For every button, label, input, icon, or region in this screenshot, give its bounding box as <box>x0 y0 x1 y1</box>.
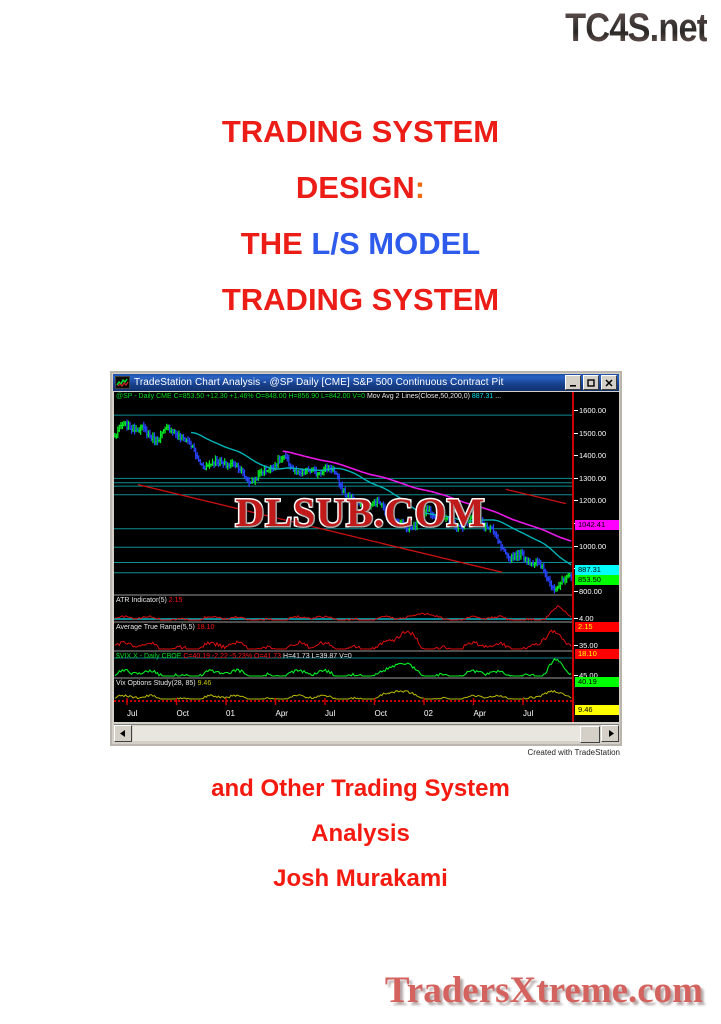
subtitle-line-2: Analysis <box>0 811 721 856</box>
minimize-button[interactable] <box>565 375 581 390</box>
x-tick-label: Oct <box>375 709 387 718</box>
scroll-right-arrow-icon[interactable] <box>601 725 619 742</box>
axis-tick <box>574 591 578 592</box>
price-pane-status: @SP - Daily CME C=853.50 +12.30 +1.46% O… <box>116 393 501 400</box>
title-colon: : <box>415 170 425 205</box>
status-segment: -2.22 <box>212 653 228 660</box>
axis-value-box: 853.50 <box>575 575 619 585</box>
status-segment: @SP - Daily <box>116 393 154 400</box>
scrollbar-thumb[interactable] <box>580 726 600 743</box>
status-segment: L=842.00 <box>321 393 350 400</box>
tc4s-brand-logo: TC4S.net <box>565 6 707 51</box>
scrollbar-track[interactable] <box>133 726 600 741</box>
close-button[interactable] <box>601 375 617 390</box>
x-tick-label: Apr <box>276 709 288 718</box>
axis-tick-label: 1500.00 <box>579 429 606 438</box>
pane-value: 9.46 <box>198 680 212 687</box>
chart-icon <box>115 376 130 389</box>
status-segment: CME <box>156 393 172 400</box>
window-controls[interactable] <box>565 375 619 390</box>
status-segment: V=0 <box>339 653 352 660</box>
status-segment: L=39.87 <box>312 653 338 660</box>
tradersxtreme-footer-logo: TradersXtreme.com <box>385 969 703 1012</box>
vix-pane-status: $VIX.X - Daily CBOE C=40.19 -2.22 -5.23%… <box>116 653 352 660</box>
x-tick-label: Jul <box>523 709 533 718</box>
pane-label: ATR Indicator(5) <box>116 597 167 604</box>
axis-value-box: 40.19 <box>575 677 619 687</box>
x-tick-label: 02 <box>424 709 433 718</box>
maximize-button[interactable] <box>583 375 599 390</box>
axis-value-box: 2.15 <box>575 622 619 632</box>
pane-label: Vix Options Study(28, 85) <box>116 680 196 687</box>
status-segment: ... <box>495 393 501 400</box>
axis-tick <box>574 433 578 434</box>
x-tick-label: Oct <box>177 709 189 718</box>
horizontal-scrollbar[interactable] <box>114 724 619 741</box>
chart-plot[interactable]: @SP - Daily CME C=853.50 +12.30 +1.46% O… <box>114 392 572 722</box>
title-line-1: TRADING SYSTEM <box>0 104 721 160</box>
window-title-text: TradeStation Chart Analysis - @SP Daily … <box>134 377 565 388</box>
axis-tick <box>574 410 578 411</box>
title-line-3: THE L/S MODEL <box>0 216 721 272</box>
axis-tick <box>574 455 578 456</box>
chart-canvas-area[interactable]: @SP - Daily CME C=853.50 +12.30 +1.46% O… <box>114 392 619 722</box>
axis-tick <box>574 675 578 676</box>
title-ls-model-text: L/S MODEL <box>311 226 480 261</box>
window-titlebar[interactable]: TradeStation Chart Analysis - @SP Daily … <box>113 374 619 391</box>
status-segment: H=41.73 <box>283 653 310 660</box>
x-tick-label: Jul <box>127 709 137 718</box>
title-line-4: TRADING SYSTEM <box>0 272 721 328</box>
x-tick-label: Jul <box>325 709 335 718</box>
pane-label: Average True Range(5,5) <box>116 624 195 631</box>
x-tick-label: 01 <box>226 709 235 718</box>
author-name: Josh Murakami <box>0 856 721 901</box>
axis-value-box: 1042.41 <box>575 520 619 530</box>
status-segment: H=856.90 <box>288 393 319 400</box>
status-segment: -5.23% <box>230 653 252 660</box>
average-true-range-label: Average True Range(5,5) 18.10 <box>116 624 214 631</box>
status-segment: CBOE <box>162 653 182 660</box>
axis-tick <box>574 546 578 547</box>
status-segment: C=853.50 <box>174 393 205 400</box>
axis-value-box: 18.10 <box>575 649 619 659</box>
vix-options-study-label: Vix Options Study(28, 85) 9.46 <box>116 680 211 687</box>
axis-tick-label: 1300.00 <box>579 474 606 483</box>
axis-tick-label: 1400.00 <box>579 451 606 460</box>
scroll-left-arrow-icon[interactable] <box>114 725 132 742</box>
created-with-label: Created with TradeStation <box>110 748 622 757</box>
status-segment: +1.46% <box>230 393 254 400</box>
axis-tick-label: 1000.00 <box>579 542 606 551</box>
axis-tick <box>574 478 578 479</box>
axis-tick <box>574 500 578 501</box>
axis-value-box: 9.46 <box>575 705 619 715</box>
x-tick-label: Apr <box>474 709 486 718</box>
status-segment: 887.31 <box>472 393 493 400</box>
axis-tick-label: 1600.00 <box>579 406 606 415</box>
subtitle-line-1: and Other Trading System <box>0 766 721 811</box>
axis-tick-label: 800.00 <box>579 587 602 596</box>
pane-value: 18.10 <box>197 624 215 631</box>
page-title: TRADING SYSTEM DESIGN: THE L/S MODEL TRA… <box>0 104 721 328</box>
price-axis[interactable]: 1600.001500.001400.001300.001200.001100.… <box>572 392 619 722</box>
status-segment: $VIX.X - Daily <box>116 653 160 660</box>
axis-value-box: 887.31 <box>575 565 619 575</box>
title-the-text: THE <box>241 226 312 261</box>
subtitle-block: and Other Trading System Analysis Josh M… <box>0 766 721 901</box>
status-segment: C=40.19 <box>183 653 210 660</box>
tradestation-chart-window[interactable]: TradeStation Chart Analysis - @SP Daily … <box>110 371 622 746</box>
axis-tick <box>574 618 578 619</box>
status-segment: +12.30 <box>206 393 228 400</box>
status-segment: Mov Avg 2 Lines(Close,50,200,0) <box>367 393 470 400</box>
atr-indicator-label: ATR Indicator(5) 2.15 <box>116 597 182 604</box>
axis-tick <box>574 645 578 646</box>
title-line-2: DESIGN: <box>0 160 721 216</box>
axis-tick-label: 1200.00 <box>579 496 606 505</box>
status-segment: O=848.00 <box>256 393 287 400</box>
chart-plot-svg <box>114 392 572 722</box>
status-segment: V=0 <box>352 393 365 400</box>
status-segment: O=41.73 <box>254 653 281 660</box>
pane-value: 2.15 <box>169 597 183 604</box>
title-design-text: DESIGN <box>296 170 415 205</box>
x-axis: JulOct01AprJulOct02AprJul <box>114 701 572 722</box>
